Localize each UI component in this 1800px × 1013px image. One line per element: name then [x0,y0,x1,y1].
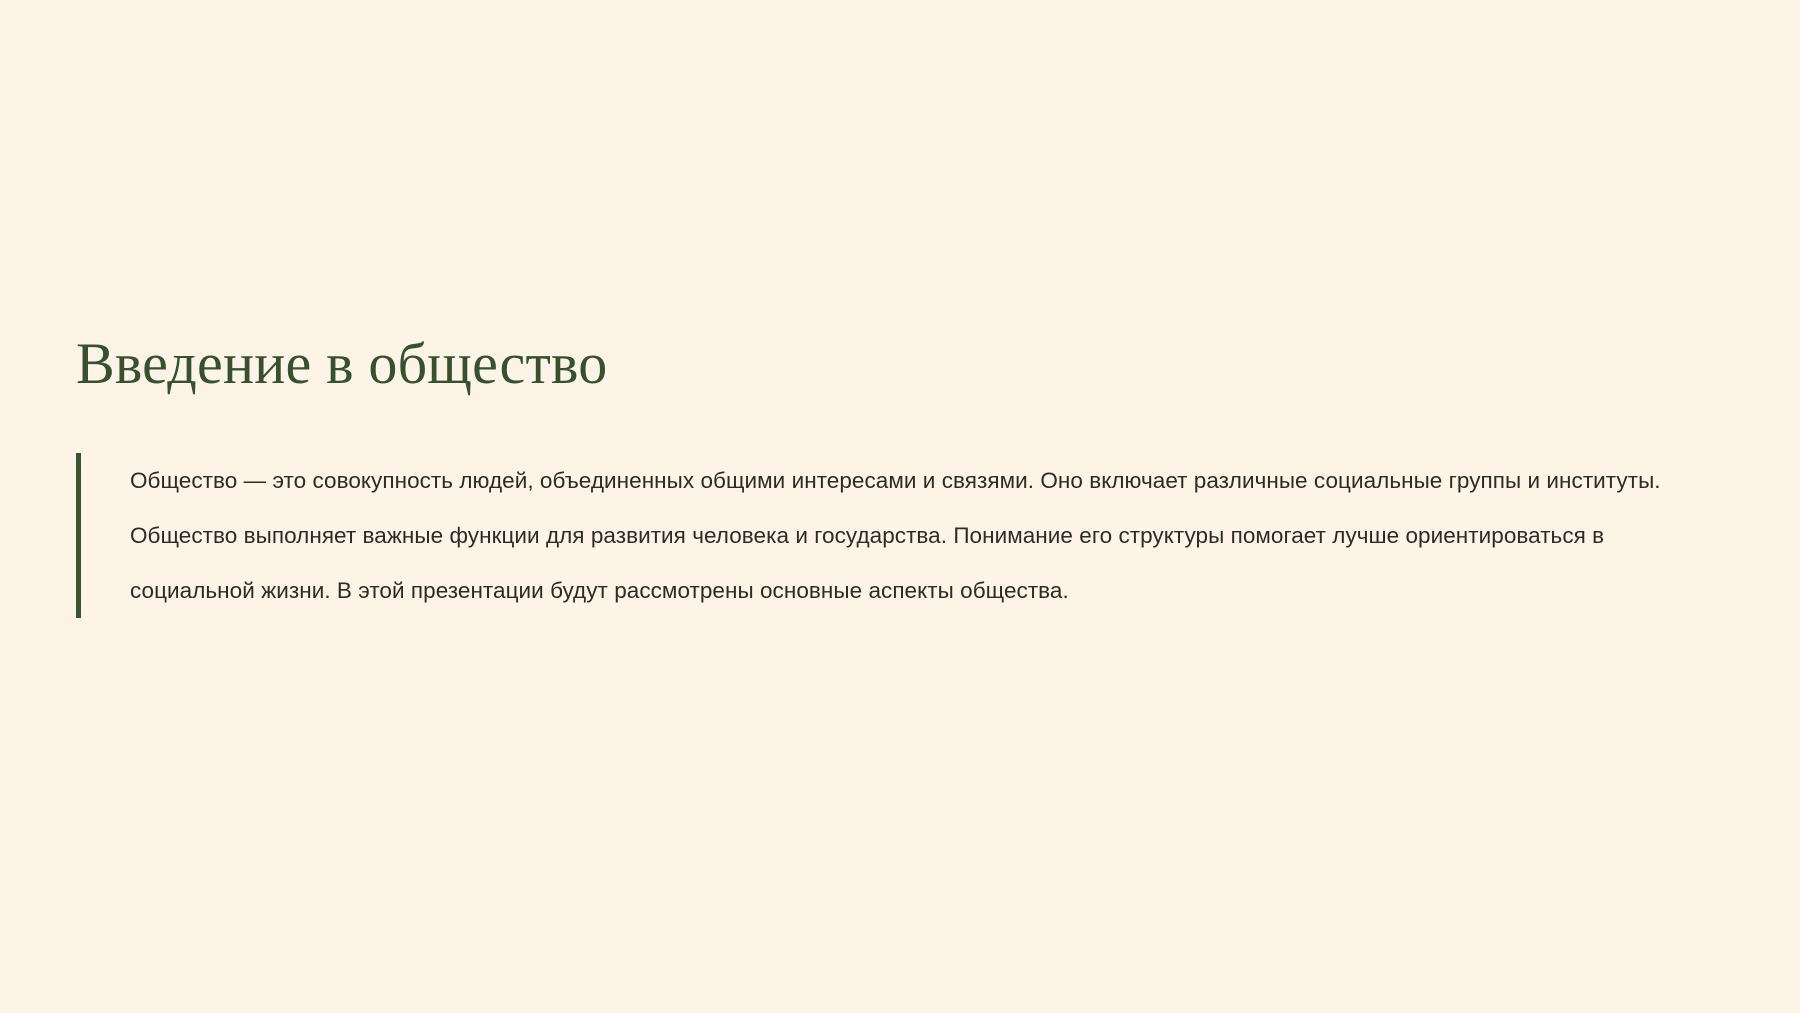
body-quote-block: Общество — это совокупность людей, объед… [76,453,1716,618]
presentation-slide: Введение в общество Общество — это совок… [0,0,1800,1013]
accent-bar [76,453,81,618]
page-title: Введение в общество [76,330,1716,397]
slide-content: Введение в общество Общество — это совок… [76,330,1716,618]
body-paragraph: Общество — это совокупность людей, объед… [130,453,1716,618]
